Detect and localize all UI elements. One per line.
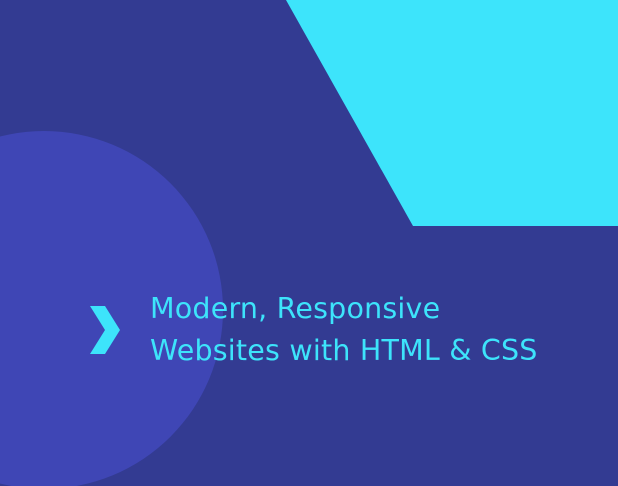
chevron-right-icon xyxy=(88,306,122,354)
course-card: Modern, Responsive Websites with HTML & … xyxy=(0,0,618,486)
headline-line-2: Websites with HTML & CSS xyxy=(150,330,608,372)
headline-row: Modern, Responsive Websites with HTML & … xyxy=(88,288,608,372)
headline-line-1: Modern, Responsive xyxy=(150,288,608,330)
page-title: Modern, Responsive Websites with HTML & … xyxy=(150,288,608,372)
card-content: Modern, Responsive Websites with HTML & … xyxy=(0,0,618,486)
